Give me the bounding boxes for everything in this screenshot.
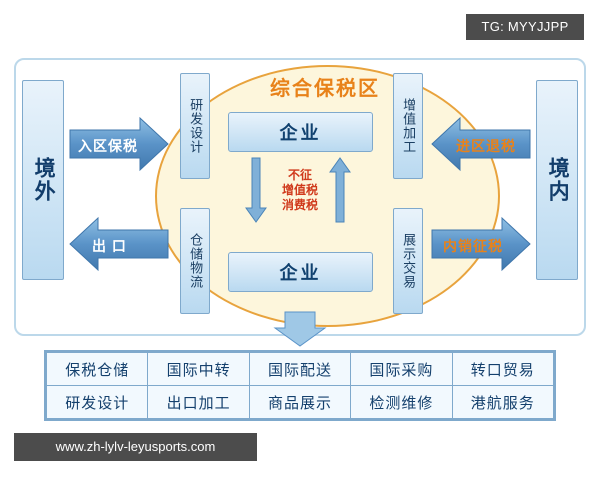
- table-cell: 转口贸易: [452, 353, 553, 386]
- arrow-export: [70, 218, 168, 270]
- enterprise-box-top: 企业: [228, 112, 373, 152]
- function-box-rd-design: 研发设计: [180, 73, 210, 179]
- services-table-body: 保税仓储 国际中转 国际配送 国际采购 转口贸易 研发设计 出口加工 商品展示 …: [47, 353, 554, 419]
- tax-note-line-2: 增值税: [252, 183, 348, 198]
- table-cell: 出口加工: [148, 386, 249, 419]
- diagram-canvas: 入区保税 出 口 进区退税 内销征税 综合保税区 境外 境内 研发设计 仓储物流…: [0, 40, 600, 430]
- table-row: 研发设计 出口加工 商品展示 检测维修 港航服务: [47, 386, 554, 419]
- arrow-exit-tax-refund: [432, 118, 530, 170]
- arrow-down-to-table: [275, 312, 325, 346]
- tax-exemption-note: 不征 增值税 消费税: [252, 168, 348, 213]
- table-cell: 保税仓储: [47, 353, 148, 386]
- table-cell: 港航服务: [452, 386, 553, 419]
- table-cell: 商品展示: [249, 386, 350, 419]
- table-cell: 研发设计: [47, 386, 148, 419]
- table-cell: 国际采购: [351, 353, 452, 386]
- function-box-exhibition-trade: 展示交易: [393, 208, 423, 314]
- region-box-outside: 境外: [22, 80, 64, 280]
- enterprise-box-bottom: 企业: [228, 252, 373, 292]
- tax-note-line-1: 不征: [252, 168, 348, 183]
- arrow-in-bonded: [70, 118, 168, 170]
- tax-note-line-3: 消费税: [252, 198, 348, 213]
- services-table: 保税仓储 国际中转 国际配送 国际采购 转口贸易 研发设计 出口加工 商品展示 …: [44, 350, 556, 421]
- function-box-vat-processing: 增值加工: [393, 73, 423, 179]
- services-table-grid: 保税仓储 国际中转 国际配送 国际采购 转口贸易 研发设计 出口加工 商品展示 …: [46, 352, 554, 419]
- function-box-warehouse-logistics: 仓储物流: [180, 208, 210, 314]
- table-cell: 国际中转: [148, 353, 249, 386]
- table-row: 保税仓储 国际中转 国际配送 国际采购 转口贸易: [47, 353, 554, 386]
- table-cell: 国际配送: [249, 353, 350, 386]
- watermark-url: www.zh-lylv-leyusports.com: [14, 433, 257, 461]
- region-box-inside: 境内: [536, 80, 578, 280]
- watermark-tag: TG: MYYJJPP: [466, 14, 584, 40]
- arrow-domestic-tax: [432, 218, 530, 270]
- table-cell: 检测维修: [351, 386, 452, 419]
- zone-title: 综合保税区: [235, 72, 415, 101]
